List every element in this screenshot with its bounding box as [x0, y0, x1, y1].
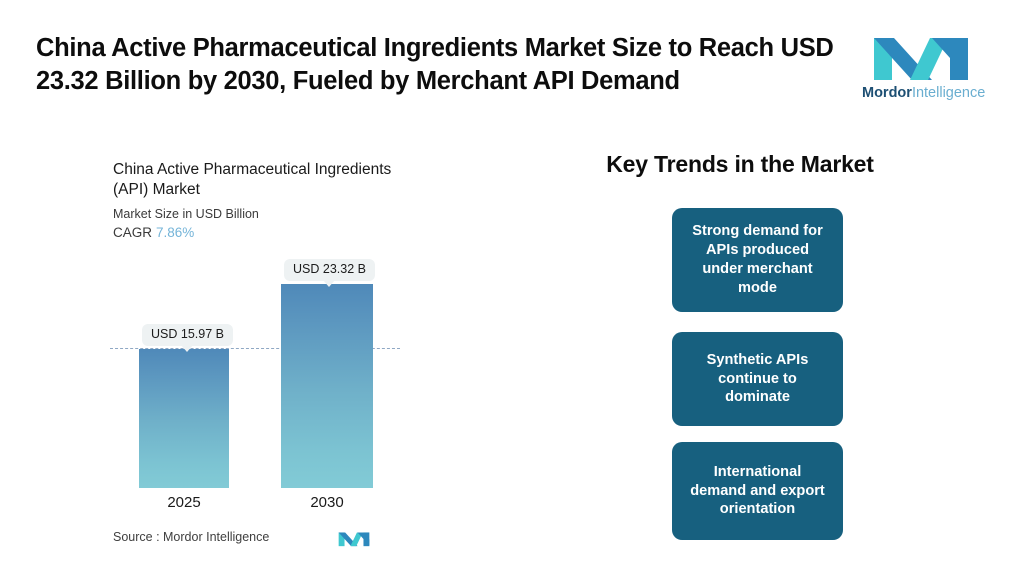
trend-card: International demand and export orientat…	[672, 442, 843, 540]
page-title: China Active Pharmaceutical Ingredients …	[36, 32, 841, 98]
bar-value-label-2030: USD 23.32 B	[284, 259, 375, 281]
mordor-m-logo-icon	[872, 28, 970, 82]
trend-card-text: International demand and export orientat…	[684, 463, 831, 520]
mordor-m-logo-small-icon	[338, 528, 370, 548]
bar-value-label-2025: USD 15.97 B	[142, 324, 233, 346]
trend-card: Strong demand for APIs produced under me…	[672, 208, 843, 312]
brand-name-secondary: Intelligence	[912, 85, 985, 101]
trend-card: Synthetic APIs continue to dominate	[672, 332, 843, 426]
key-trends-heading: Key Trends in the Market	[500, 151, 980, 178]
brand-name-primary: Mordor	[862, 85, 912, 101]
x-axis-tick-2025: 2025	[139, 494, 229, 511]
source-label: Source : Mordor Intelligence	[113, 530, 269, 544]
key-trends-panel: Key Trends in the Market Strong demand f…	[500, 120, 1018, 582]
brand-logo: MordorIntelligence	[862, 28, 980, 106]
page-header: China Active Pharmaceutical Ingredients …	[0, 0, 1018, 120]
bar-2025	[139, 349, 229, 488]
chart-source: Source : Mordor Intelligence	[113, 528, 383, 550]
bar-2030	[281, 284, 373, 488]
bar-chart-plot: USD 15.97 B USD 23.32 B 2025 2030	[0, 120, 500, 582]
trend-card-text: Strong demand for APIs produced under me…	[684, 222, 831, 298]
x-axis-tick-2030: 2030	[281, 494, 373, 511]
chart-panel: China Active Pharmaceutical Ingredients …	[0, 120, 500, 582]
brand-logo-text: MordorIntelligence	[862, 86, 980, 101]
trend-card-text: Synthetic APIs continue to dominate	[684, 351, 831, 408]
